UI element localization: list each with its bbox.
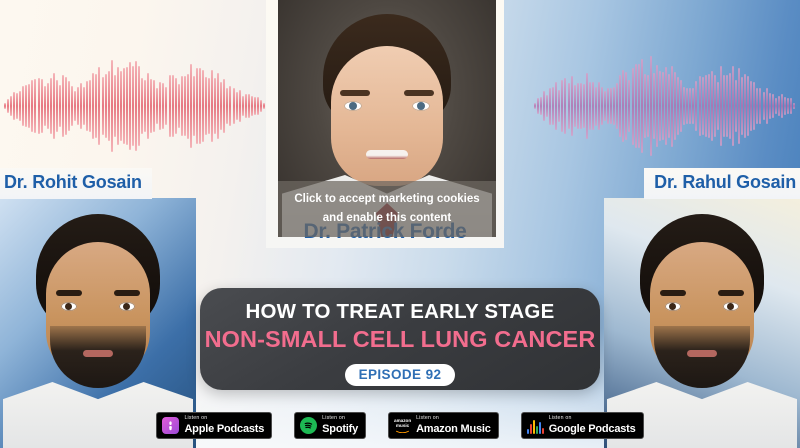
platform-badge-text: Listen onAmazon Music: [416, 416, 491, 434]
equalizer-bar: [539, 422, 541, 434]
platform-name-label: Spotify: [322, 424, 358, 435]
podcast-platform-badges: Listen onApple PodcastsListen onSpotifya…: [0, 412, 800, 439]
equalizer-bar: [536, 426, 538, 434]
eyebrow-left: [56, 290, 82, 296]
mouth: [366, 150, 408, 159]
equalizer-bar: [542, 428, 544, 434]
platform-badge-google-podcasts[interactable]: Listen onGoogle Podcasts: [521, 412, 644, 439]
face-shape: [331, 46, 443, 186]
host-name-right: Dr. Rahul Gosain: [644, 168, 800, 199]
listen-on-label: Listen on: [549, 416, 636, 421]
apple-podcasts-icon: [162, 417, 179, 434]
platform-badge-text: Listen onGoogle Podcasts: [549, 416, 636, 434]
eye-right: [723, 302, 739, 311]
equalizer-bar: [527, 429, 529, 434]
listen-on-label: Listen on: [322, 416, 358, 421]
spotify-icon: [300, 417, 317, 434]
cookie-consent-overlay[interactable]: Click to accept marketing cookies and en…: [278, 181, 496, 237]
mouth: [83, 350, 113, 357]
eye-left: [61, 302, 77, 311]
episode-title-card: HOW TO TREAT EARLY STAGE NON-SMALL CELL …: [200, 288, 600, 390]
eyebrow-right: [718, 290, 744, 296]
eyebrow-left: [660, 290, 686, 296]
listen-on-label: Listen on: [416, 416, 491, 421]
mouth: [687, 350, 717, 357]
equalizer-bar: [530, 424, 532, 434]
google-podcasts-icon: [527, 417, 544, 434]
amazon-wordmark-line2: music: [396, 423, 409, 428]
host-name-left: Dr. Rohit Gosain: [0, 168, 152, 199]
equalizer-bar: [533, 420, 535, 434]
cookie-consent-text: Click to accept marketing cookies and en…: [292, 190, 482, 228]
platform-badge-amazon-music[interactable]: amazonmusicListen onAmazon Music: [388, 412, 499, 439]
host-photo-left: [0, 198, 196, 448]
platform-badge-text: Listen onSpotify: [322, 416, 358, 434]
eye-left: [665, 302, 681, 311]
title-line-2: NON-SMALL CELL LUNG CANCER: [205, 326, 596, 353]
platform-badge-apple-podcasts[interactable]: Listen onApple Podcasts: [156, 412, 272, 439]
eyebrow-right: [404, 90, 434, 96]
eye-left: [344, 101, 362, 111]
guest-photo: Click to accept marketing cookies and en…: [278, 0, 496, 237]
host-photo-right: [604, 198, 800, 448]
title-line-1: HOW TO TREAT EARLY STAGE: [246, 300, 555, 324]
eyebrow-right: [114, 290, 140, 296]
eyebrow-left: [340, 90, 370, 96]
listen-on-label: Listen on: [184, 416, 264, 421]
episode-number-badge: EPISODE 92: [345, 364, 456, 386]
guest-card: Click to accept marketing cookies and en…: [266, 0, 504, 248]
amazon-music-icon: amazonmusic: [394, 417, 411, 434]
platform-name-label: Google Podcasts: [549, 424, 636, 435]
eye-right: [119, 302, 135, 311]
platform-badge-spotify[interactable]: Listen onSpotify: [294, 412, 366, 439]
platform-badge-text: Listen onApple Podcasts: [184, 416, 264, 434]
platform-name-label: Apple Podcasts: [184, 424, 264, 435]
eye-right: [412, 101, 430, 111]
platform-name-label: Amazon Music: [416, 424, 491, 435]
